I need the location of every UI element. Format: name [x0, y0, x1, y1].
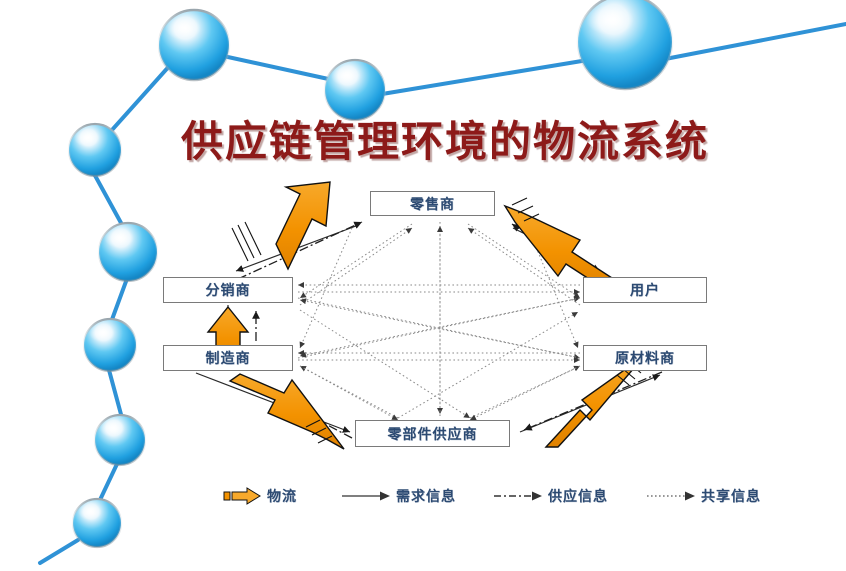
legend-item-supply: 供应信息 — [492, 482, 608, 510]
legend-item-logistics: 物流 — [223, 482, 297, 510]
node-retailer[interactable]: 零售商 — [370, 191, 495, 216]
solid-arrow-icon — [340, 486, 392, 506]
legend-label-shared: 共享信息 — [701, 486, 761, 506]
legend-label-supply: 供应信息 — [548, 486, 608, 506]
logistics-arrows — [208, 182, 646, 449]
logistics-arrow-lower-left — [230, 374, 344, 449]
node-parts-supplier[interactable]: 零部件供应商 — [355, 420, 510, 447]
slide-canvas: 供应链管理环境的物流系统 — [0, 0, 846, 571]
node-distributor[interactable]: 分销商 — [163, 277, 293, 303]
legend: 物流 需求信息 供应信息 共享信息 — [0, 482, 846, 510]
legend-item-demand: 需求信息 — [340, 482, 456, 510]
dashdot-arrow-icon — [492, 486, 544, 506]
orange-block-arrow-icon — [223, 486, 263, 506]
legend-label-logistics: 物流 — [267, 486, 297, 506]
legend-item-shared: 共享信息 — [645, 482, 761, 510]
node-user[interactable]: 用户 — [583, 277, 707, 303]
shared-info-edges — [298, 222, 580, 420]
dotted-arrow-icon — [645, 486, 697, 506]
logistics-arrow-upper-left — [228, 182, 330, 269]
node-raw-material[interactable]: 原材料商 — [583, 345, 707, 371]
legend-label-demand: 需求信息 — [396, 486, 456, 506]
node-manufacturer[interactable]: 制造商 — [163, 345, 293, 371]
